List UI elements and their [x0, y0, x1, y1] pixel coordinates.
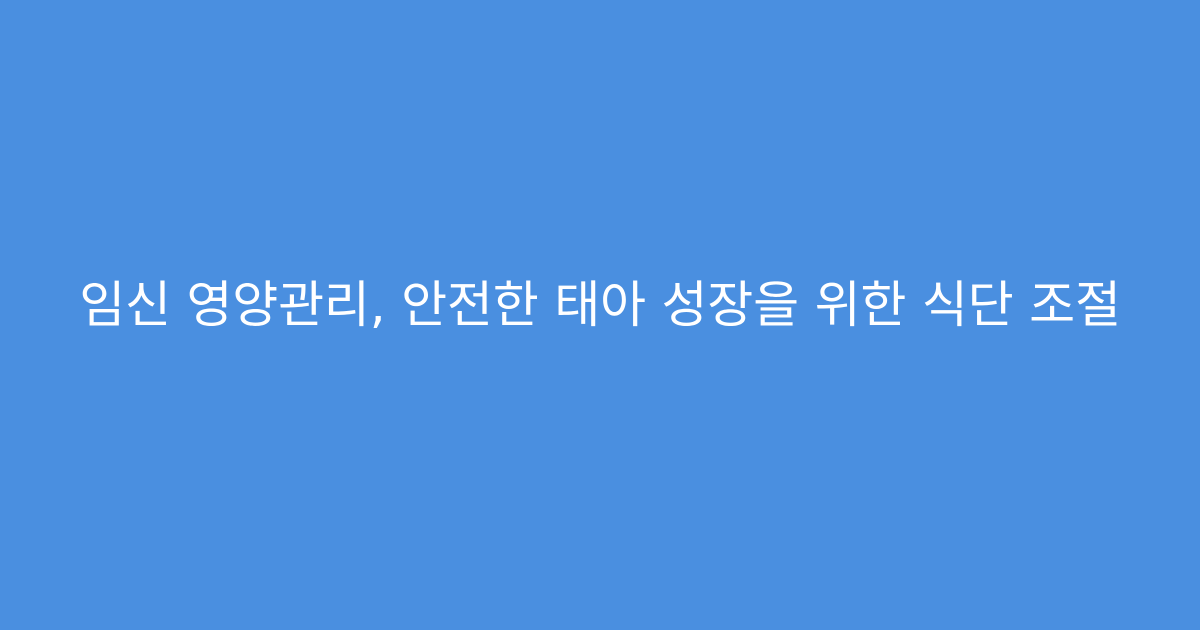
- share-card: 임신 영양관리, 안전한 태아 성장을 위한 식단 조절: [0, 0, 1200, 630]
- share-card-content: 임신 영양관리, 안전한 태아 성장을 위한 식단 조절: [64, 273, 1136, 337]
- page-title: 임신 영양관리, 안전한 태아 성장을 위한 식단 조절: [64, 273, 1136, 337]
